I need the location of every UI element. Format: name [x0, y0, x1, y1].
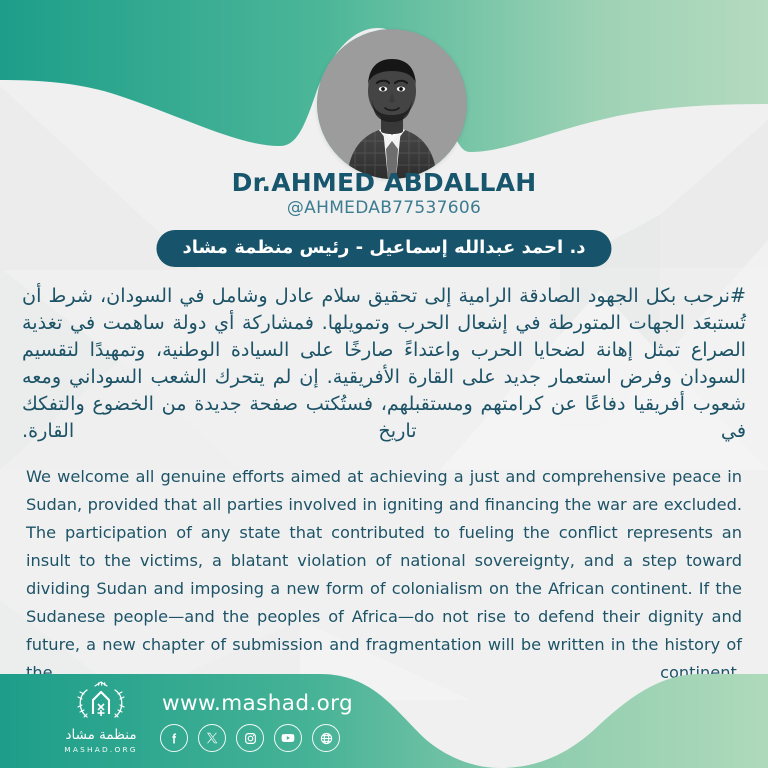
globe-icon[interactable] — [312, 724, 340, 752]
mashad-emblem-icon — [73, 680, 129, 726]
x-twitter-icon[interactable] — [198, 724, 226, 752]
organization-logo: منظمة مشاد MASHAD.ORG — [52, 680, 150, 754]
statement-arabic: #نرحب بكل الجهود الصادقة الرامية إلى تحق… — [22, 282, 746, 444]
portrait-photo — [317, 29, 467, 179]
social-links — [160, 724, 340, 752]
role-badge: د. احمد عبدالله إسماعيل - رئيس منظمة مشا… — [156, 230, 611, 267]
social-handle: @AHMEDAB77537606 — [0, 198, 768, 218]
social-media-statement-card: Dr.AHMED ABDALLAH @AHMEDAB77537606 د. اح… — [0, 0, 768, 768]
logo-latin-name: MASHAD.ORG — [52, 745, 150, 754]
logo-arabic-name: منظمة مشاد — [52, 728, 150, 743]
website-url[interactable]: www.mashad.org — [162, 691, 353, 716]
avatar — [317, 29, 467, 179]
statement-english: We welcome all genuine efforts aimed at … — [26, 463, 742, 687]
instagram-icon[interactable] — [236, 724, 264, 752]
page-title: Dr.AHMED ABDALLAH — [0, 168, 768, 197]
youtube-icon[interactable] — [274, 724, 302, 752]
statement-english-text: We welcome all genuine efforts aimed at … — [26, 463, 742, 687]
facebook-icon[interactable] — [160, 724, 188, 752]
